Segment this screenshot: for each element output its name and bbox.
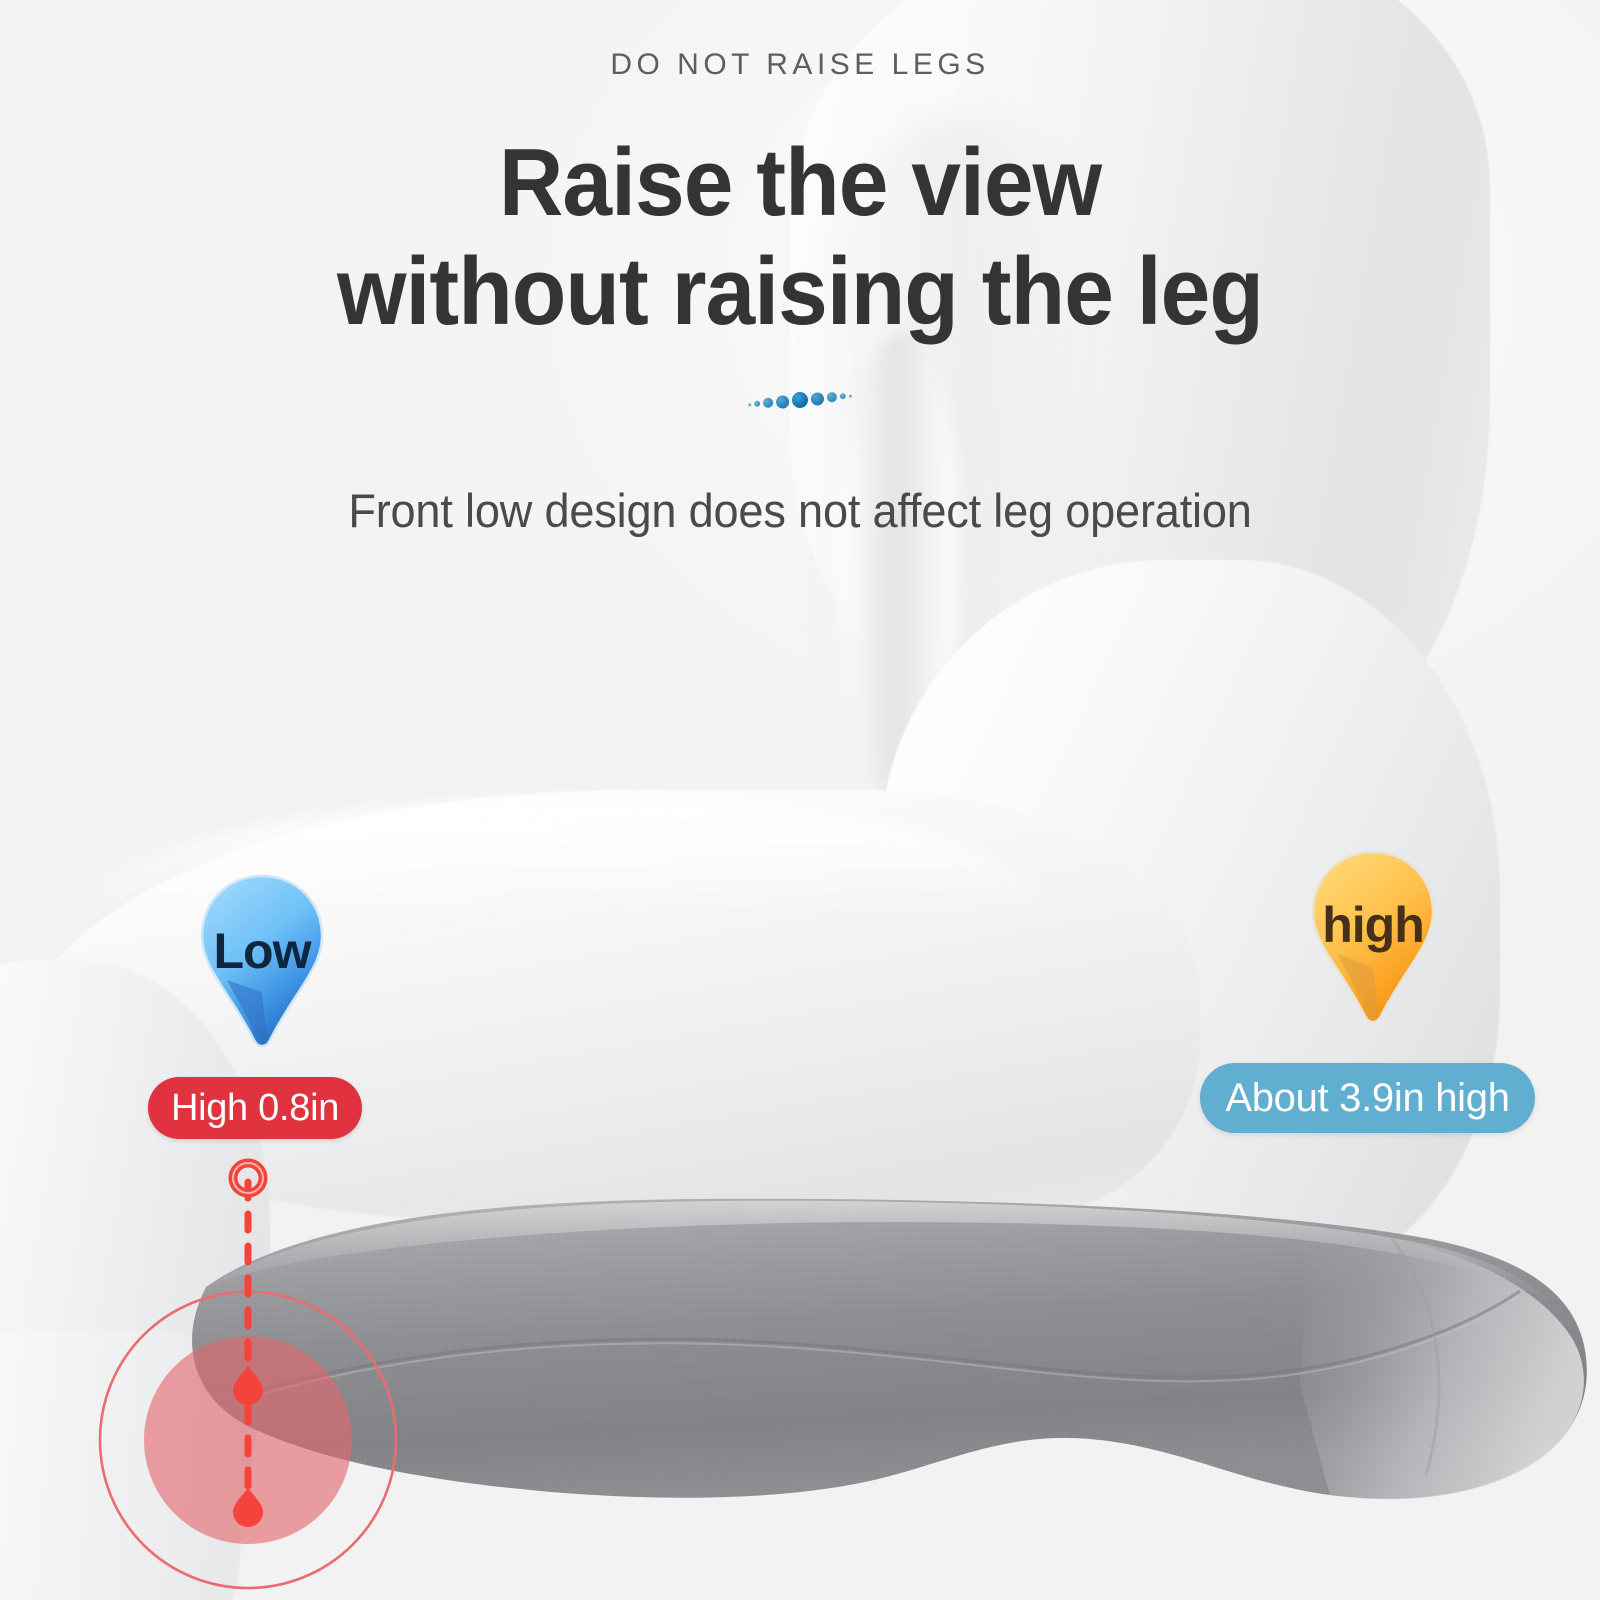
badge-front-height[interactable]: High 0.8in xyxy=(148,1077,362,1139)
ornament-dot xyxy=(748,403,751,406)
ornament-dot xyxy=(810,391,824,405)
marker-pin-low[interactable]: Low xyxy=(197,872,327,1062)
ornament-dot xyxy=(791,391,808,408)
headline-line-1: Raise the view xyxy=(499,129,1101,236)
ornament-dot xyxy=(763,397,774,408)
front-height-indicator xyxy=(96,1148,436,1600)
badge-rear-height[interactable]: About 3.9in high xyxy=(1200,1063,1535,1133)
ornament-dot xyxy=(826,392,837,403)
ornament-dot xyxy=(840,393,847,400)
eyebrow-text: DO NOT RAISE LEGS xyxy=(0,48,1600,82)
ornament-dot xyxy=(776,394,790,408)
product-feature-graphic: DO NOT RAISE LEGS Raise the view without… xyxy=(0,0,1600,1600)
subtitle-text: Front low design does not affect leg ope… xyxy=(32,483,1568,538)
headline-line-2: without raising the leg xyxy=(56,237,1544,346)
ornament-dot xyxy=(849,394,852,397)
page-title: Raise the view without raising the leg xyxy=(56,128,1544,347)
marker-pin-high[interactable]: high xyxy=(1308,848,1438,1038)
marker-pin-high-label: high xyxy=(1322,900,1424,950)
marker-pin-low-label: Low xyxy=(214,926,311,976)
ornament-dot xyxy=(754,400,761,407)
